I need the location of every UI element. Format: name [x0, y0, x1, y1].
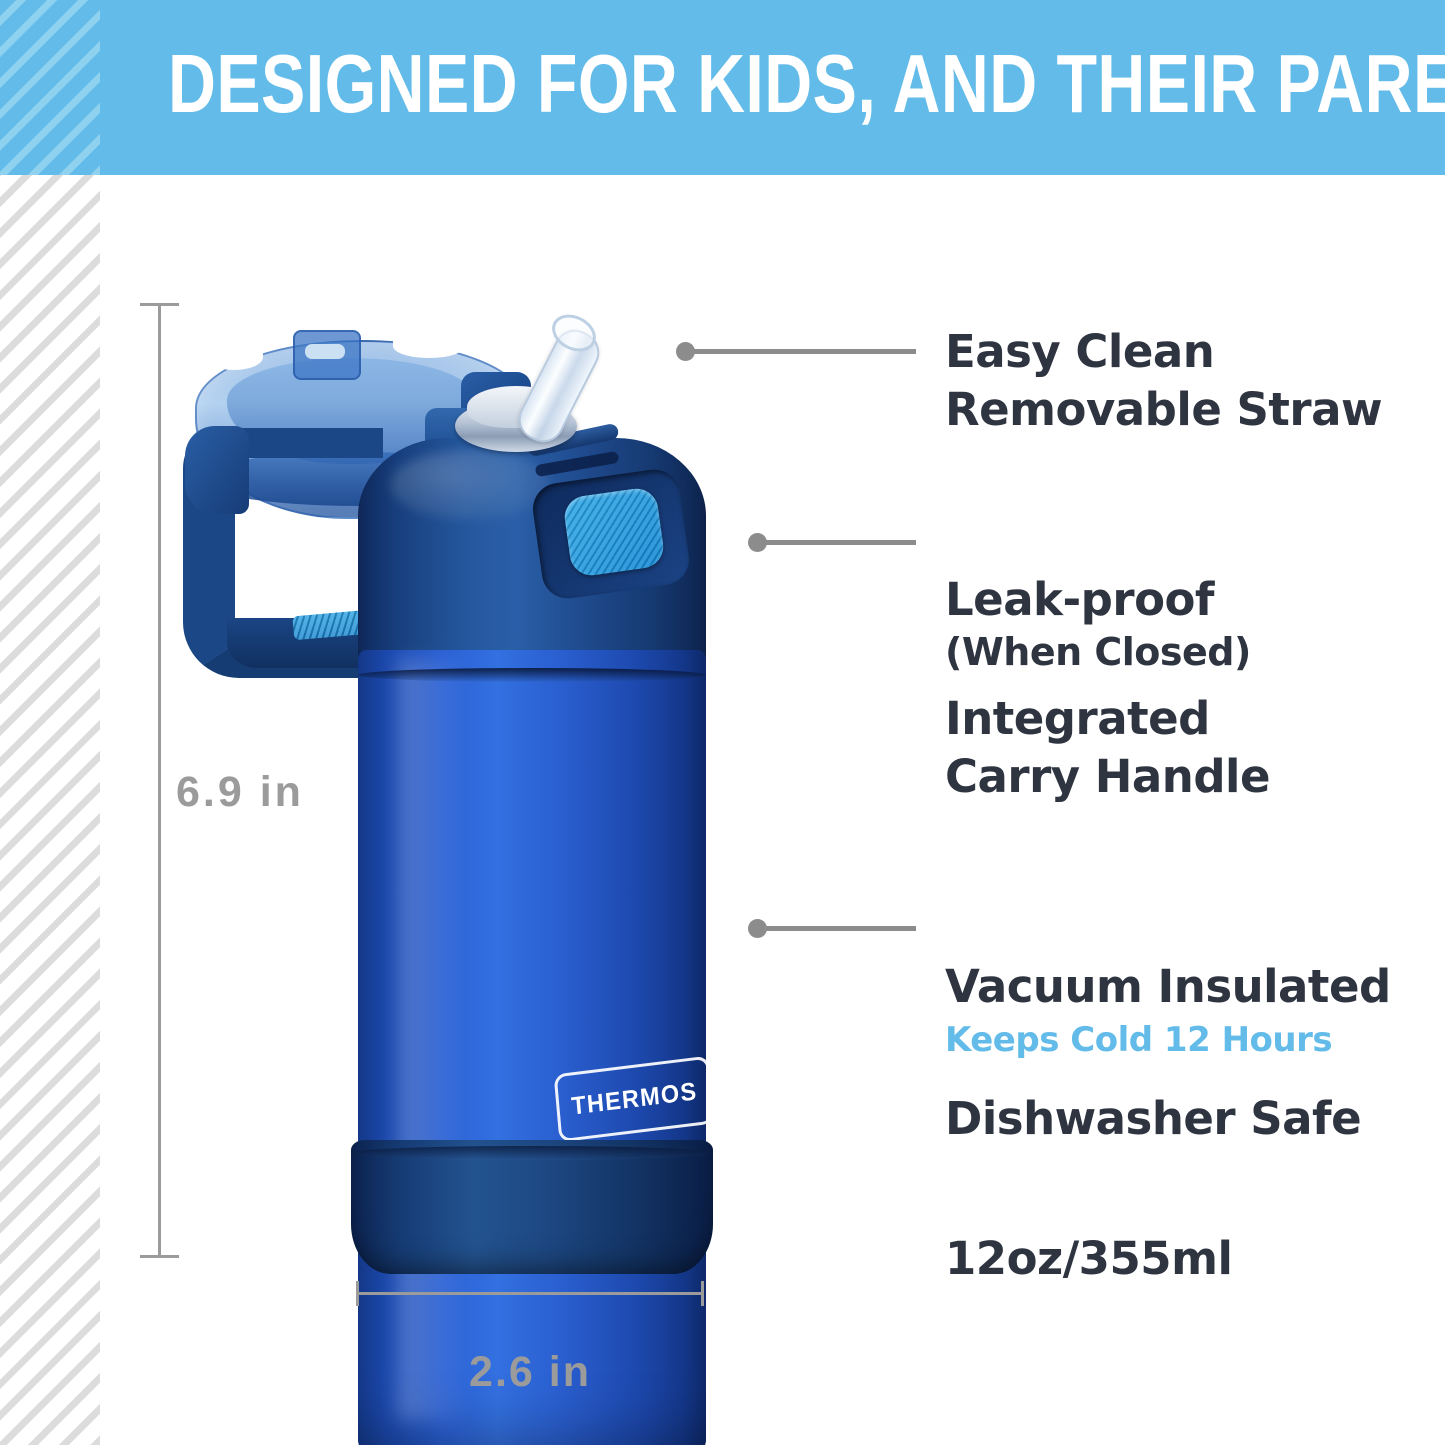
header-stripe-accent: [0, 0, 100, 175]
lid-notch-left: [205, 344, 263, 370]
feature-vacuum-insulated-highlight: Keeps Cold 12 Hours: [945, 1019, 1391, 1063]
feature-easy-clean-removable-straw: Easy Clean Removable Straw: [945, 323, 1382, 438]
width-dimension-line: [356, 1292, 704, 1295]
feature-vacuum-insulated-title: Vacuum Insulated: [945, 960, 1391, 1013]
page-title: DESIGNED FOR KIDS, AND THEIR PARENTS: [168, 34, 1160, 134]
lid-tab-hole: [305, 344, 345, 359]
height-dimension-cap-bottom: [140, 1255, 179, 1258]
cap-highlight: [390, 450, 550, 520]
feature-integrated-carry-handle: Integrated Carry Handle: [945, 690, 1270, 805]
feature-leak-proof-subtitle: (When Closed): [945, 628, 1251, 677]
height-dimension-line: [158, 303, 161, 1257]
feature-leak-proof-title: Leak-proof: [945, 573, 1214, 626]
width-dimension-label: 2.6 in: [356, 1348, 704, 1397]
push-button: [562, 486, 666, 578]
diagonal-stripe-band: [0, 0, 100, 1445]
leader-line-easy-clean-removable-straw: [690, 349, 916, 354]
bottle-shoulder-seam: [358, 668, 706, 682]
width-dimension-cap-right: [701, 1281, 704, 1306]
bottle-body-highlight: [398, 660, 468, 1420]
feature-dishwasher-safe: Dishwasher Safe: [945, 1090, 1361, 1148]
feature-vacuum-insulated: Vacuum Insulated Keeps Cold 12 Hours: [945, 900, 1391, 1120]
leader-line-vacuum-insulated: [762, 926, 916, 931]
feature-capacity: 12oz/355ml: [945, 1230, 1232, 1288]
thermos-logo-text: THERMOS: [570, 1077, 698, 1121]
infographic-page: DESIGNED FOR KIDS, AND THEIR PARENTS TH: [0, 0, 1445, 1445]
bottle-base-seam: [351, 1146, 713, 1160]
bottle-base-boot: [351, 1140, 713, 1274]
lid-notch-right: [393, 334, 465, 358]
carry-handle-top: [185, 426, 249, 514]
leader-line-leak-proof: [762, 540, 916, 545]
bottle-body: [358, 650, 706, 1445]
height-dimension-label: 6.9 in: [176, 768, 304, 817]
